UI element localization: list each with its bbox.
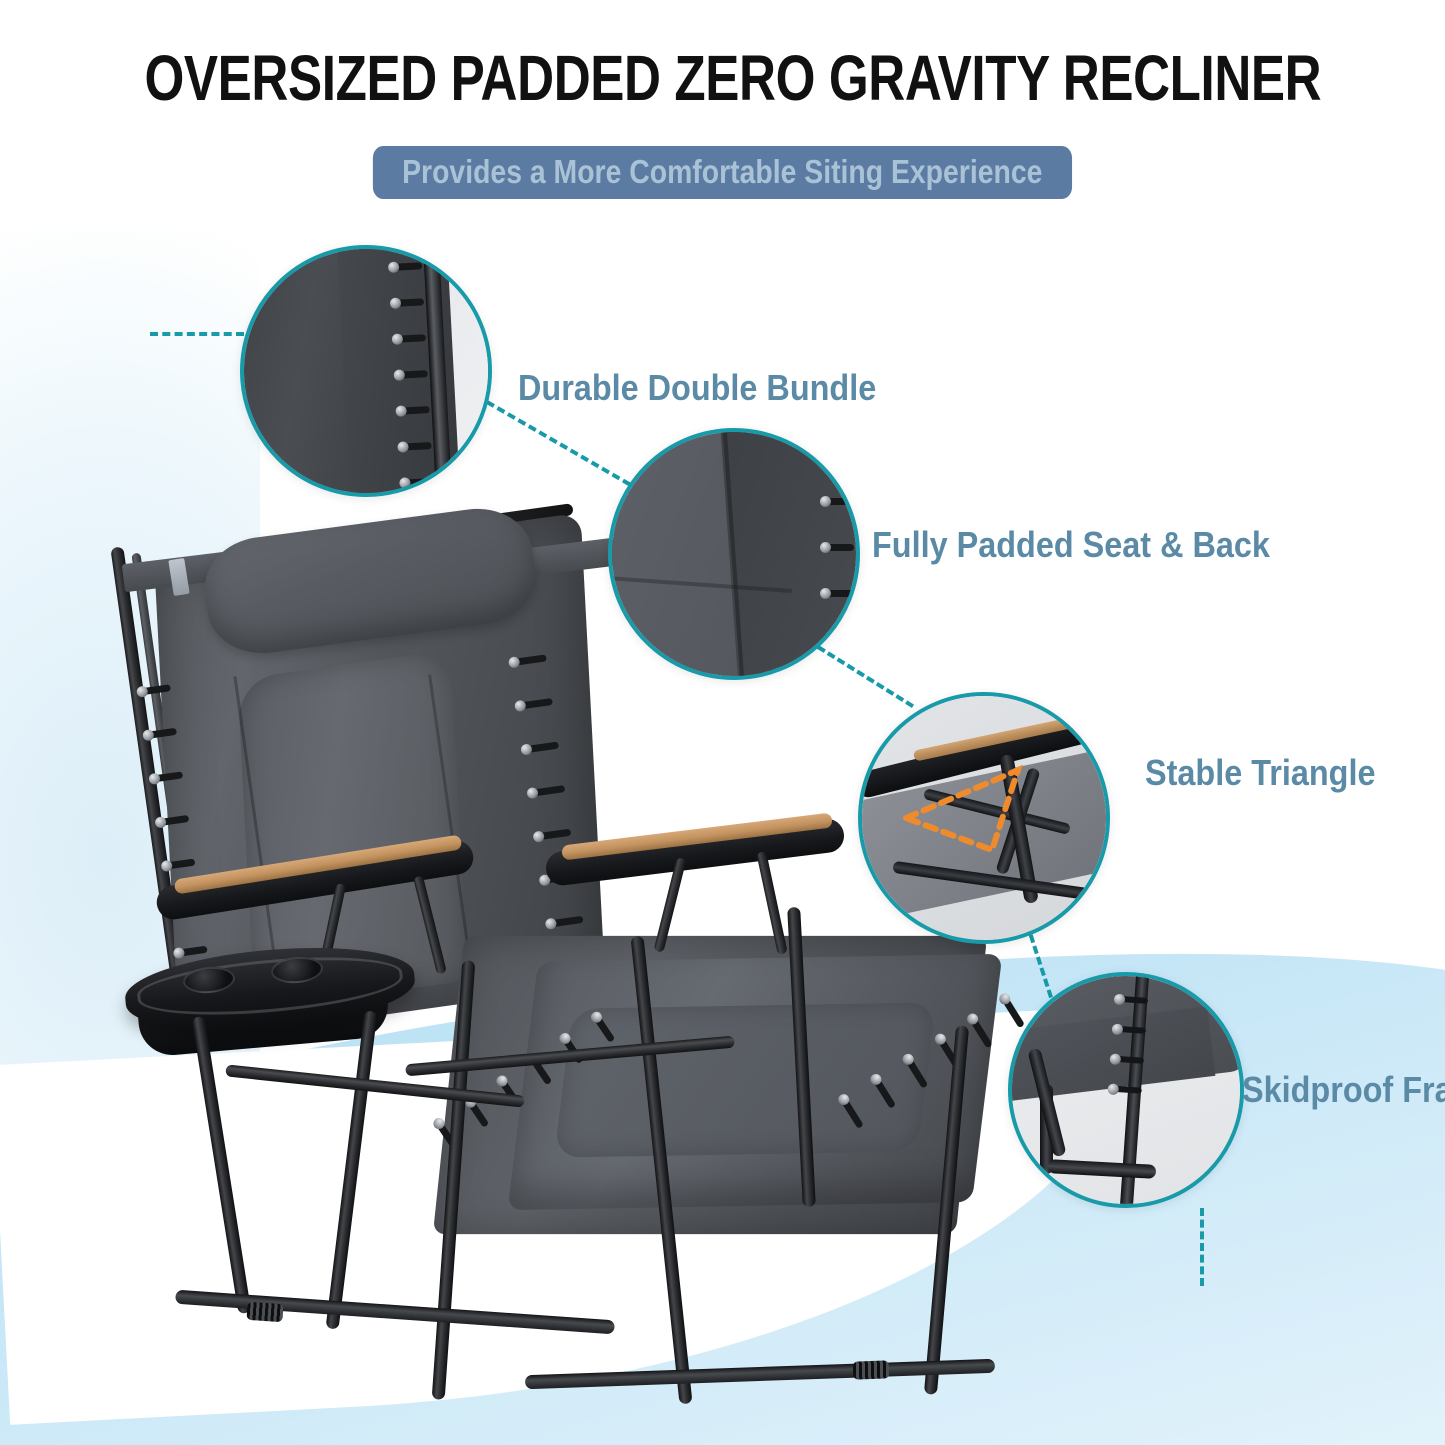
callout-durable-double-bundle[interactable]	[240, 245, 492, 497]
callout-stable-triangle[interactable]	[858, 692, 1110, 944]
page-title: OVERSIZED PADDED ZERO GRAVITY RECLINER	[145, 46, 1301, 110]
leg-front-left	[192, 1016, 252, 1314]
callout-skidproof-frame[interactable]	[1008, 972, 1244, 1208]
foot-spring-left	[246, 1302, 283, 1322]
callout-4-art	[1012, 976, 1240, 1204]
dash-line-callout4-tail	[1200, 1208, 1204, 1286]
callout-2-art	[612, 432, 856, 676]
callout-label-fully-padded-seat-back: Fully Padded Seat & Back	[872, 527, 1270, 563]
callout-label-stable-triangle: Stable Triangle	[1145, 755, 1375, 791]
callout-3-art	[862, 696, 1106, 940]
page-subtitle: Provides a More Comfortable Siting Exper…	[373, 146, 1072, 199]
product-image	[95, 505, 1105, 1445]
callout-label-durable-double-bundle: Durable Double Bundle	[518, 370, 876, 406]
callout-label-skidproof-frame: Skidproof Frame	[1242, 1072, 1445, 1108]
stable-triangle-highlight	[900, 758, 1050, 854]
foot-spring-right	[853, 1360, 890, 1379]
subtitle-container: Provides a More Comfortable Siting Exper…	[0, 146, 1445, 199]
callout-1-art	[244, 249, 488, 493]
callout-fully-padded-seat-back[interactable]	[608, 428, 860, 680]
dash-line-intro	[150, 332, 244, 336]
leg-rear-left	[326, 1010, 378, 1329]
infographic-canvas: OVERSIZED PADDED ZERO GRAVITY RECLINER P…	[0, 0, 1445, 1445]
